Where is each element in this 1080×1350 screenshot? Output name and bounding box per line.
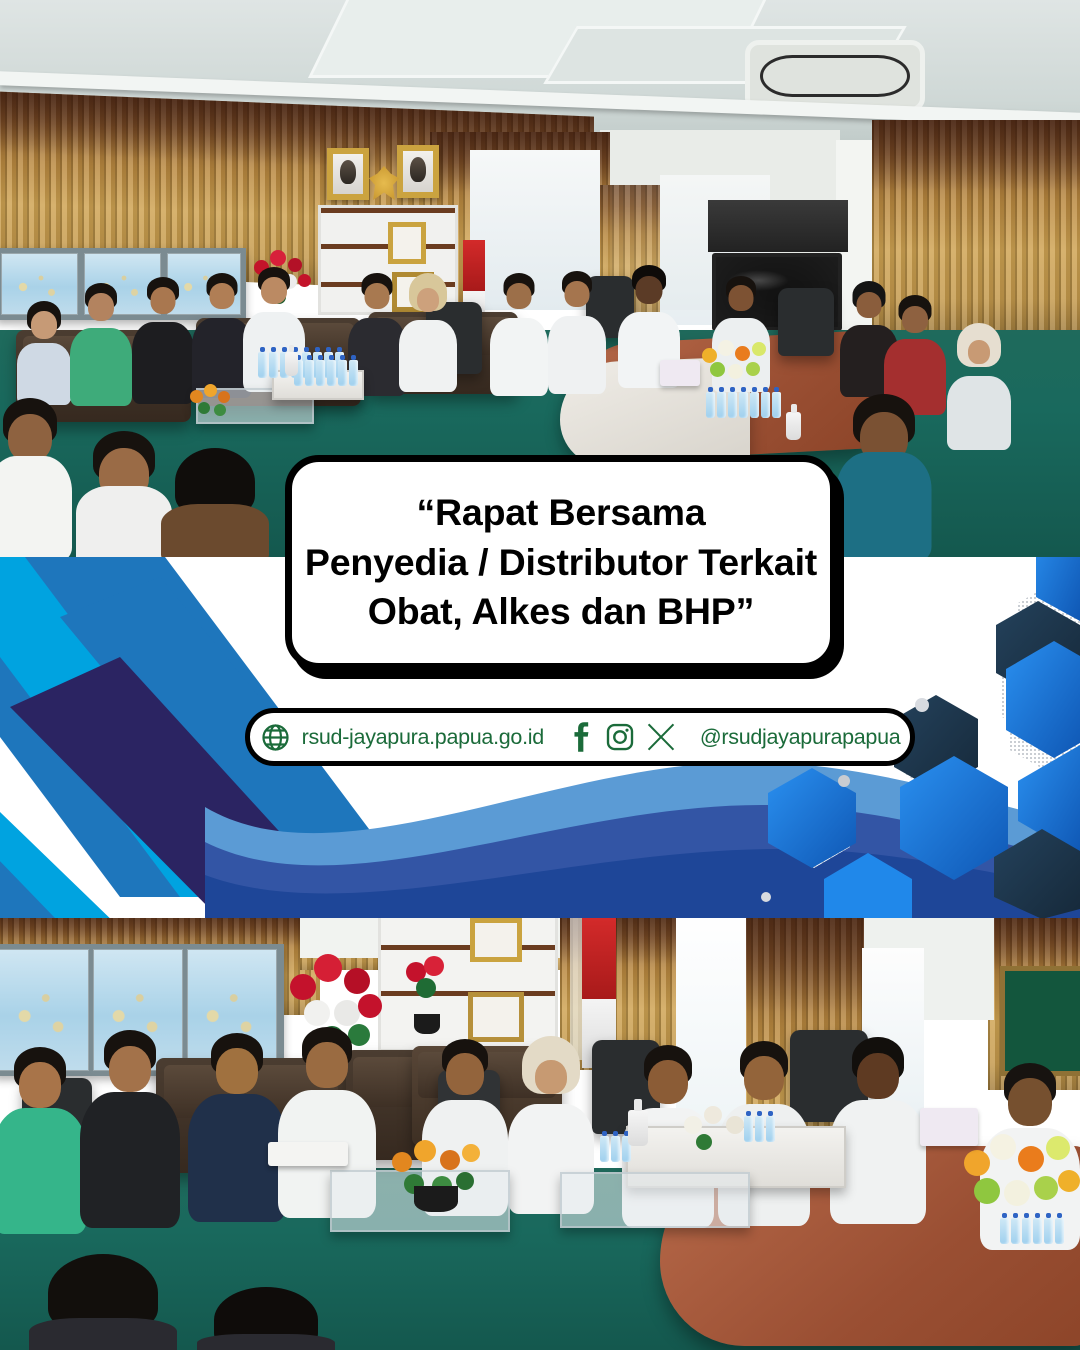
social-bar: rsud-jayapura.papua.go.id @rsudjayapurap… (245, 708, 915, 766)
certificate-frame (388, 222, 426, 264)
attendee (548, 276, 606, 394)
water-bottles (600, 1136, 631, 1162)
attendee (16, 305, 72, 405)
coffee-table-glass (560, 1172, 750, 1228)
attendee (188, 1040, 286, 1222)
tissue-box (660, 360, 700, 386)
poster-canvas: “Rapat Bersama Penyedia / Distributor Te… (0, 0, 1080, 1350)
social-handle[interactable]: @rsudjayapurapapua (700, 725, 901, 750)
attendee-foreground (0, 404, 72, 558)
table-flowers (960, 1130, 1080, 1222)
planter (414, 1014, 440, 1034)
certificate-frame (470, 918, 522, 962)
attendee-foreground (76, 436, 172, 558)
attendee (132, 282, 194, 404)
water-bottles (706, 392, 781, 418)
website-url[interactable]: rsud-jayapura.papua.go.id (302, 725, 544, 750)
meeting-room-photo-bottom (0, 918, 1080, 1350)
attendee-foreground (28, 1258, 178, 1350)
attendee (70, 288, 132, 406)
tv-cabinet-top (708, 200, 848, 252)
attendee-foreground (836, 400, 931, 558)
title-card: “Rapat Bersama Penyedia / Distributor Te… (285, 455, 837, 670)
instagram-icon[interactable] (605, 722, 635, 752)
attendee-hijab (946, 330, 1012, 450)
office-chair (778, 288, 834, 356)
certificate-frame (468, 992, 524, 1042)
attendee-hijab (398, 280, 458, 392)
flower-arrangement (188, 382, 248, 422)
attendee-foreground (196, 1290, 336, 1350)
flower-vase (414, 1186, 458, 1212)
green-board (1000, 966, 1080, 1076)
water-bottles (294, 360, 358, 386)
globe-icon (260, 722, 291, 753)
hand-sanitizer (786, 412, 801, 440)
x-twitter-icon[interactable] (646, 722, 676, 752)
portrait-frame (327, 148, 369, 200)
attendee-foreground (160, 452, 270, 558)
attendee (0, 1054, 88, 1234)
water-bottles (1000, 1218, 1064, 1244)
attendee (80, 1038, 180, 1228)
notebook (268, 1142, 348, 1166)
hand-sanitizer (285, 352, 298, 376)
tissue-box (920, 1108, 978, 1146)
attendee (490, 278, 548, 396)
poinsettia-small (402, 956, 458, 1012)
portrait-frame (397, 145, 439, 198)
water-bottles (744, 1116, 775, 1142)
table-flowers (700, 338, 776, 384)
title-text: “Rapat Bersama Penyedia / Distributor Te… (293, 488, 829, 638)
hand-sanitizer (628, 1110, 648, 1146)
facebook-icon[interactable] (568, 722, 594, 752)
